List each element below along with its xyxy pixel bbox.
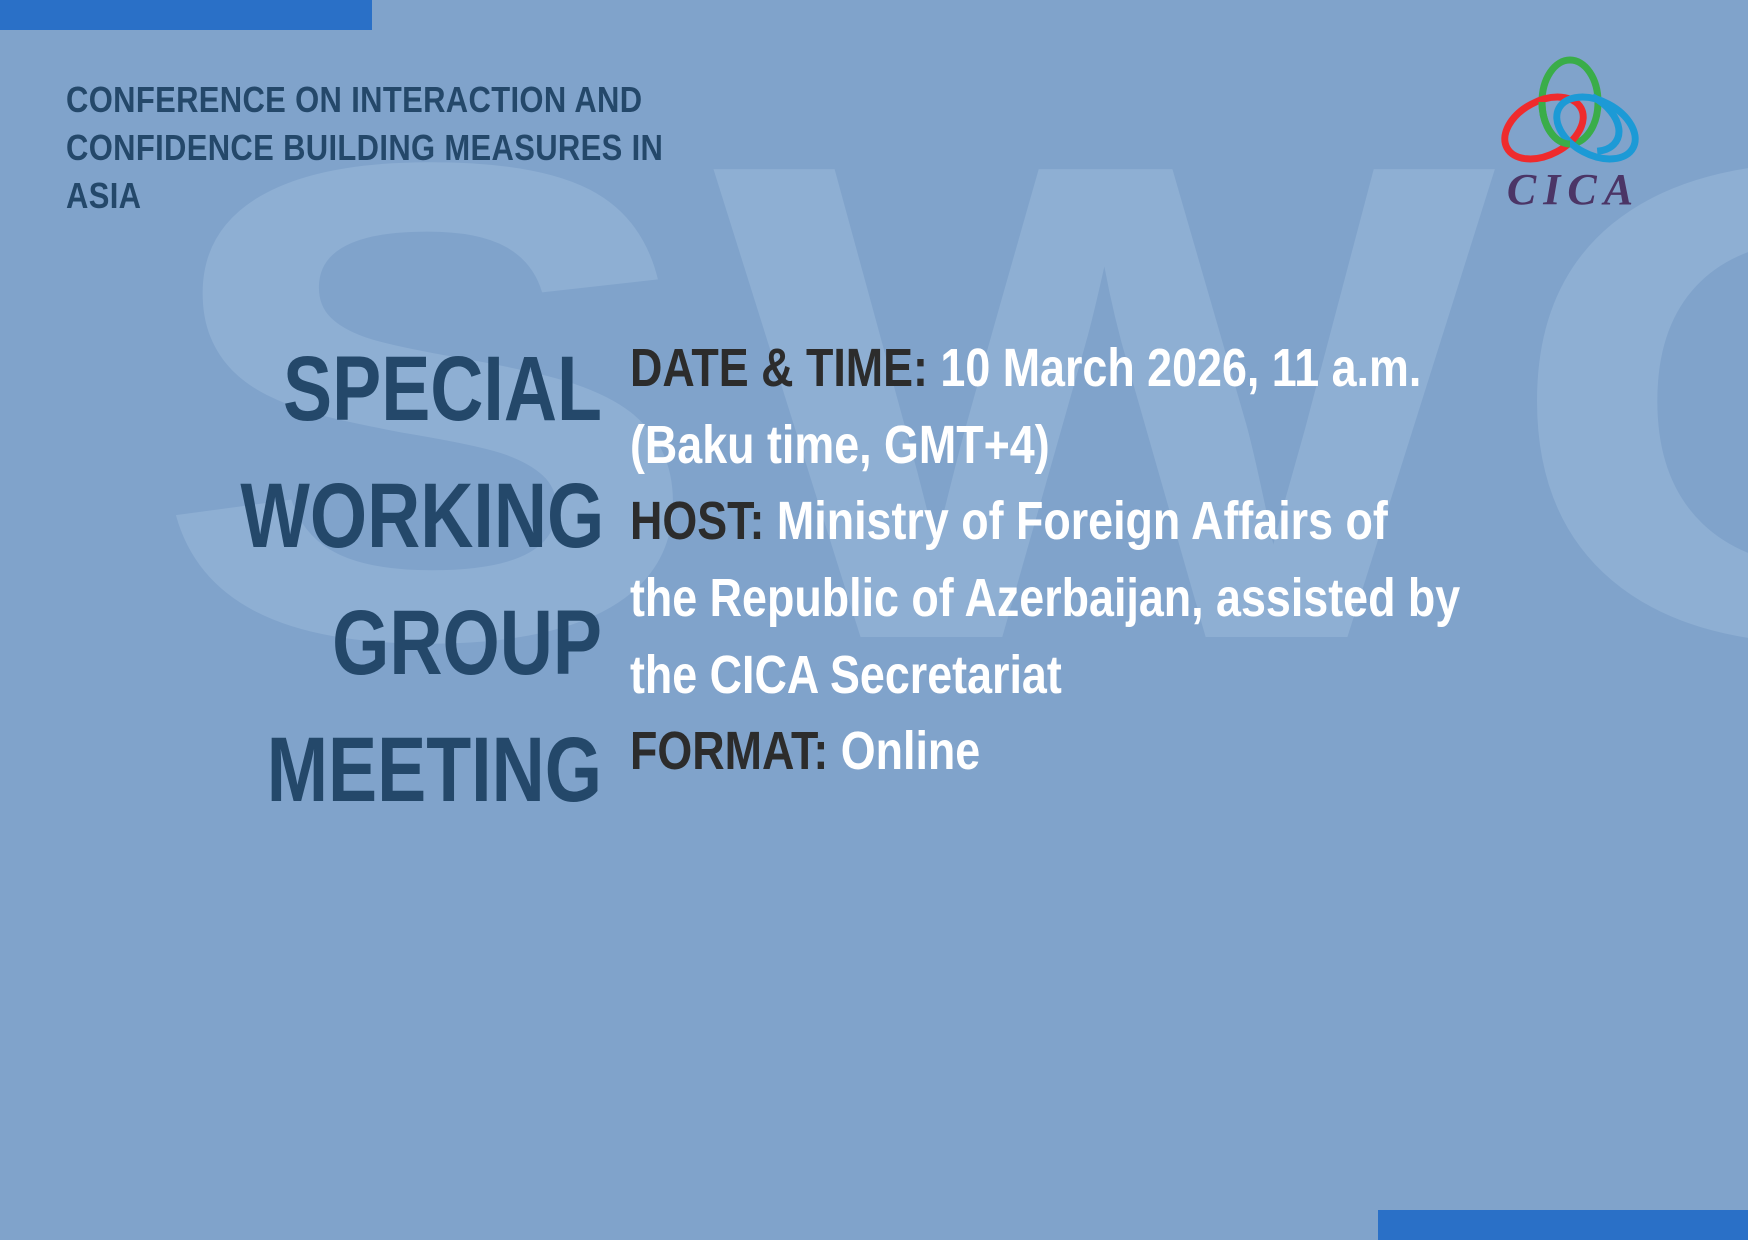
detail-label-date-time: DATE & TIME: [630, 338, 928, 398]
organization-title: CONFERENCE ON INTERACTION AND CONFIDENCE… [66, 76, 737, 220]
accent-bar-top-left [0, 0, 372, 30]
cica-rings-icon [1490, 56, 1650, 168]
detail-row-host: HOST: Ministry of Foreign Affairs of [630, 483, 1369, 560]
detail-value-format: Online [828, 721, 980, 781]
detail-value-host: Ministry of Foreign Affairs of [764, 491, 1387, 551]
cica-wordmark: CICA [1460, 164, 1680, 215]
detail-value-date-time: 10 March 2026, 11 a.m. [928, 338, 1421, 398]
detail-value-host-cont-2: the CICA Secretariat [630, 645, 1062, 705]
headline-line-2: WORKING [240, 453, 602, 580]
event-headline: SPECIAL WORKING GROUP MEETING [150, 326, 602, 834]
detail-row-timezone: (Baku time, GMT+4) [630, 407, 1369, 484]
detail-row-host-cont-1: the Republic of Azerbaijan, assisted by [630, 560, 1369, 637]
detail-label-host: HOST: [630, 491, 764, 551]
detail-row-host-cont-2: the CICA Secretariat [630, 637, 1369, 714]
headline-line-3: GROUP [240, 580, 602, 707]
detail-value-host-cont-1: the Republic of Azerbaijan, assisted by [630, 568, 1460, 628]
detail-row-format: FORMAT: Online [630, 713, 1369, 790]
headline-line-4: MEETING [240, 707, 602, 834]
poster-canvas: SWG CONFERENCE ON INTERACTION AND CONFID… [0, 0, 1748, 1240]
cica-logo: CICA [1460, 56, 1680, 216]
detail-label-format: FORMAT: [630, 721, 828, 781]
detail-row-date-time: DATE & TIME: 10 March 2026, 11 a.m. [630, 330, 1369, 407]
headline-line-1: SPECIAL [240, 326, 602, 453]
detail-value-timezone: (Baku time, GMT+4) [630, 415, 1050, 475]
event-details: DATE & TIME: 10 March 2026, 11 a.m. (Bak… [630, 330, 1520, 790]
accent-bar-bottom-right [1378, 1210, 1748, 1240]
